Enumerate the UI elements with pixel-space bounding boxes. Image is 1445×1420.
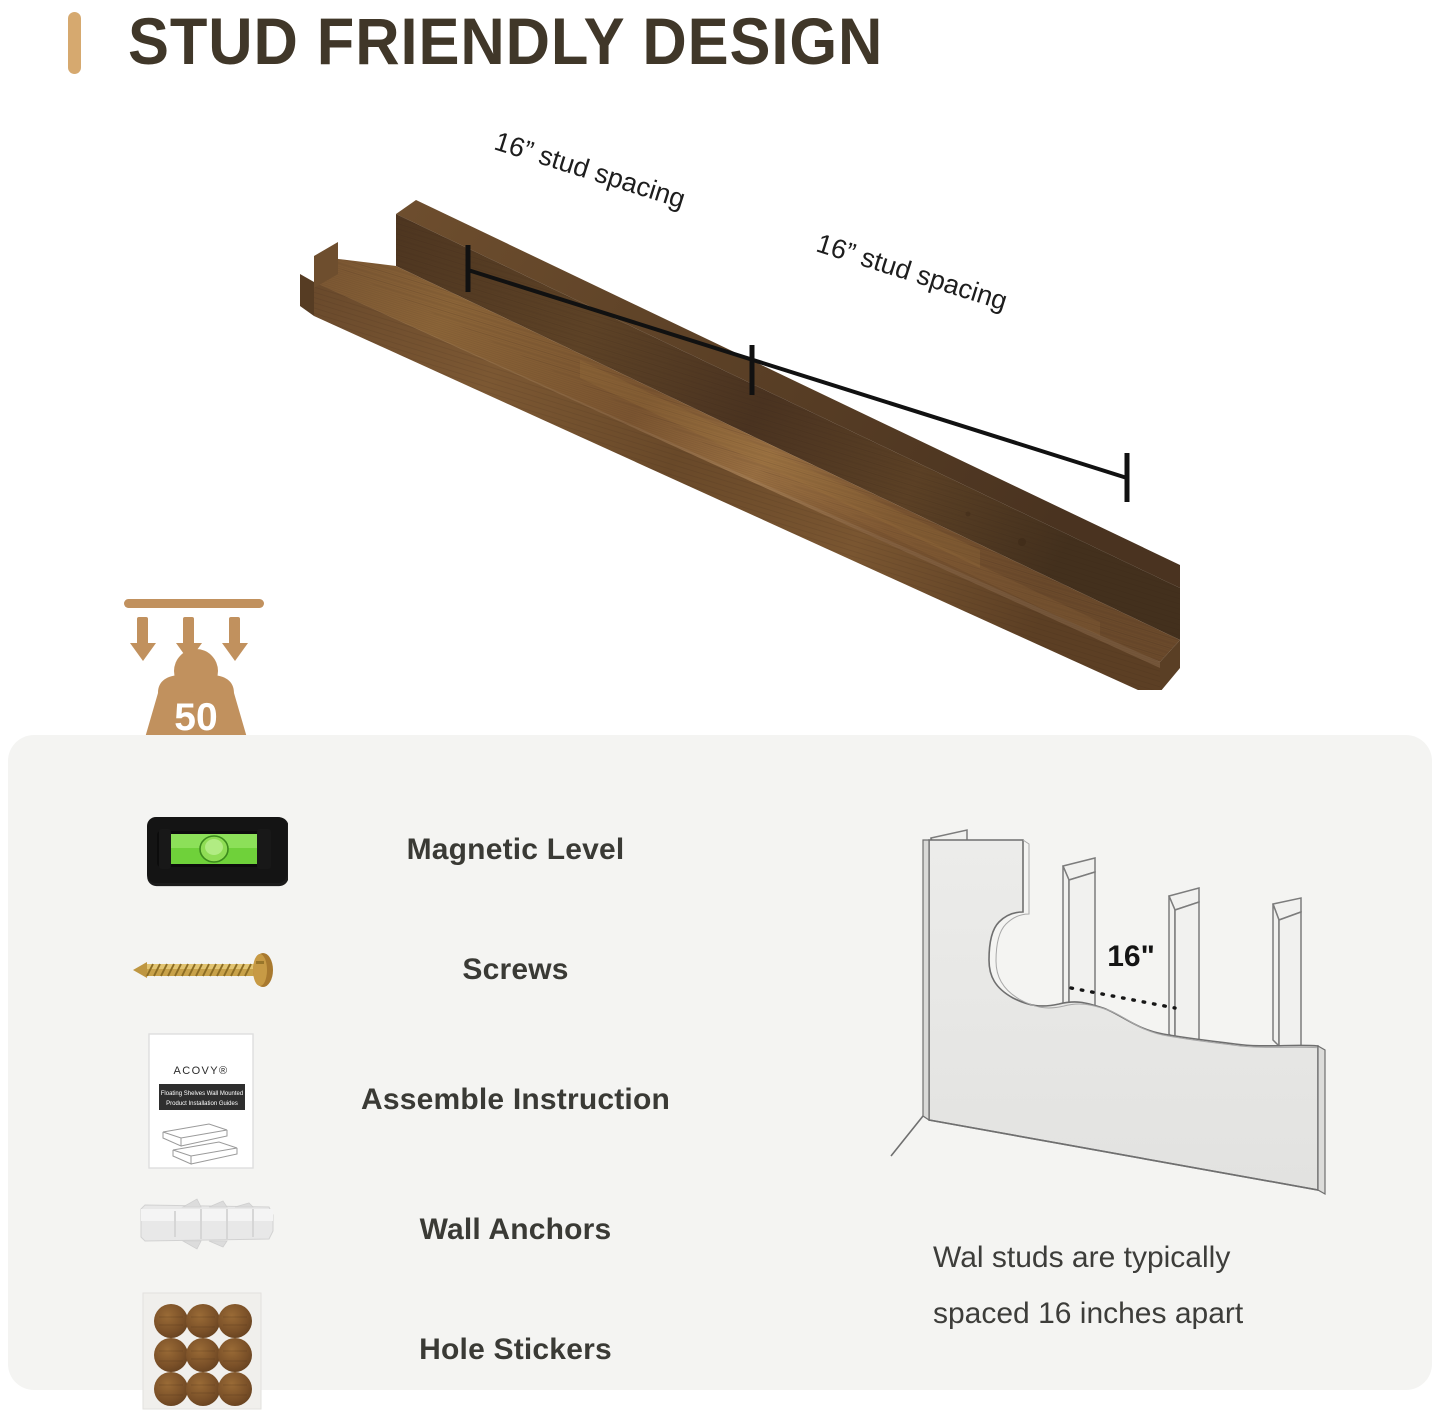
screw-icon xyxy=(123,915,288,1025)
header: STUD FRIENDLY DESIGN xyxy=(0,0,1445,110)
booklet-brand: ACOVY® xyxy=(173,1065,228,1077)
accessory-label: Magnetic Level xyxy=(288,833,743,867)
magnetic-level-icon xyxy=(123,795,288,905)
wall-anchor-icon xyxy=(123,1175,288,1285)
accessory-label: Assemble Instruction xyxy=(288,1083,743,1117)
accessory-item-magnetic-level: Magnetic Level xyxy=(123,795,743,905)
page-title: STUD FRIENDLY DESIGN xyxy=(128,3,883,79)
accessory-item-assemble-instruction: ACOVY® Floating Shelves Wall Mounted Pro… xyxy=(123,1025,743,1175)
dimension-annotation-overlay: 16” stud spacing 16” stud spacing xyxy=(430,120,1170,520)
accessory-list: Magnetic Level xyxy=(123,795,743,1365)
stud-measurement-label: 16" xyxy=(1107,940,1155,973)
stud-caption-line-2: spaced 16 inches apart xyxy=(933,1286,1353,1342)
stud-diagram-caption: Wal studs are typically spaced 16 inches… xyxy=(933,1230,1353,1342)
accessory-item-wall-anchors: Wall Anchors xyxy=(123,1180,743,1280)
accessory-label: Wall Anchors xyxy=(288,1213,743,1247)
accessory-label: Hole Stickers xyxy=(288,1333,743,1367)
accessory-item-screws: Screws xyxy=(123,915,743,1025)
booklet-banner-line1: Floating Shelves Wall Mounted xyxy=(161,1091,244,1097)
stud-wall-diagram: 16" xyxy=(863,800,1353,1230)
accessory-label: Screws xyxy=(288,953,743,987)
accessories-panel: Magnetic Level xyxy=(8,735,1432,1390)
stud-caption-line-1: Wal studs are typically xyxy=(933,1230,1353,1286)
hero-section: 16” stud spacing 16” stud spacing 50 xyxy=(0,110,1445,730)
instruction-booklet-icon: ACOVY® Floating Shelves Wall Mounted Pro… xyxy=(123,1028,288,1173)
booklet-banner-line2: Product Installation Guides xyxy=(166,1101,238,1107)
weight-value: 50 xyxy=(174,696,217,739)
title-accent-bar xyxy=(68,12,81,74)
